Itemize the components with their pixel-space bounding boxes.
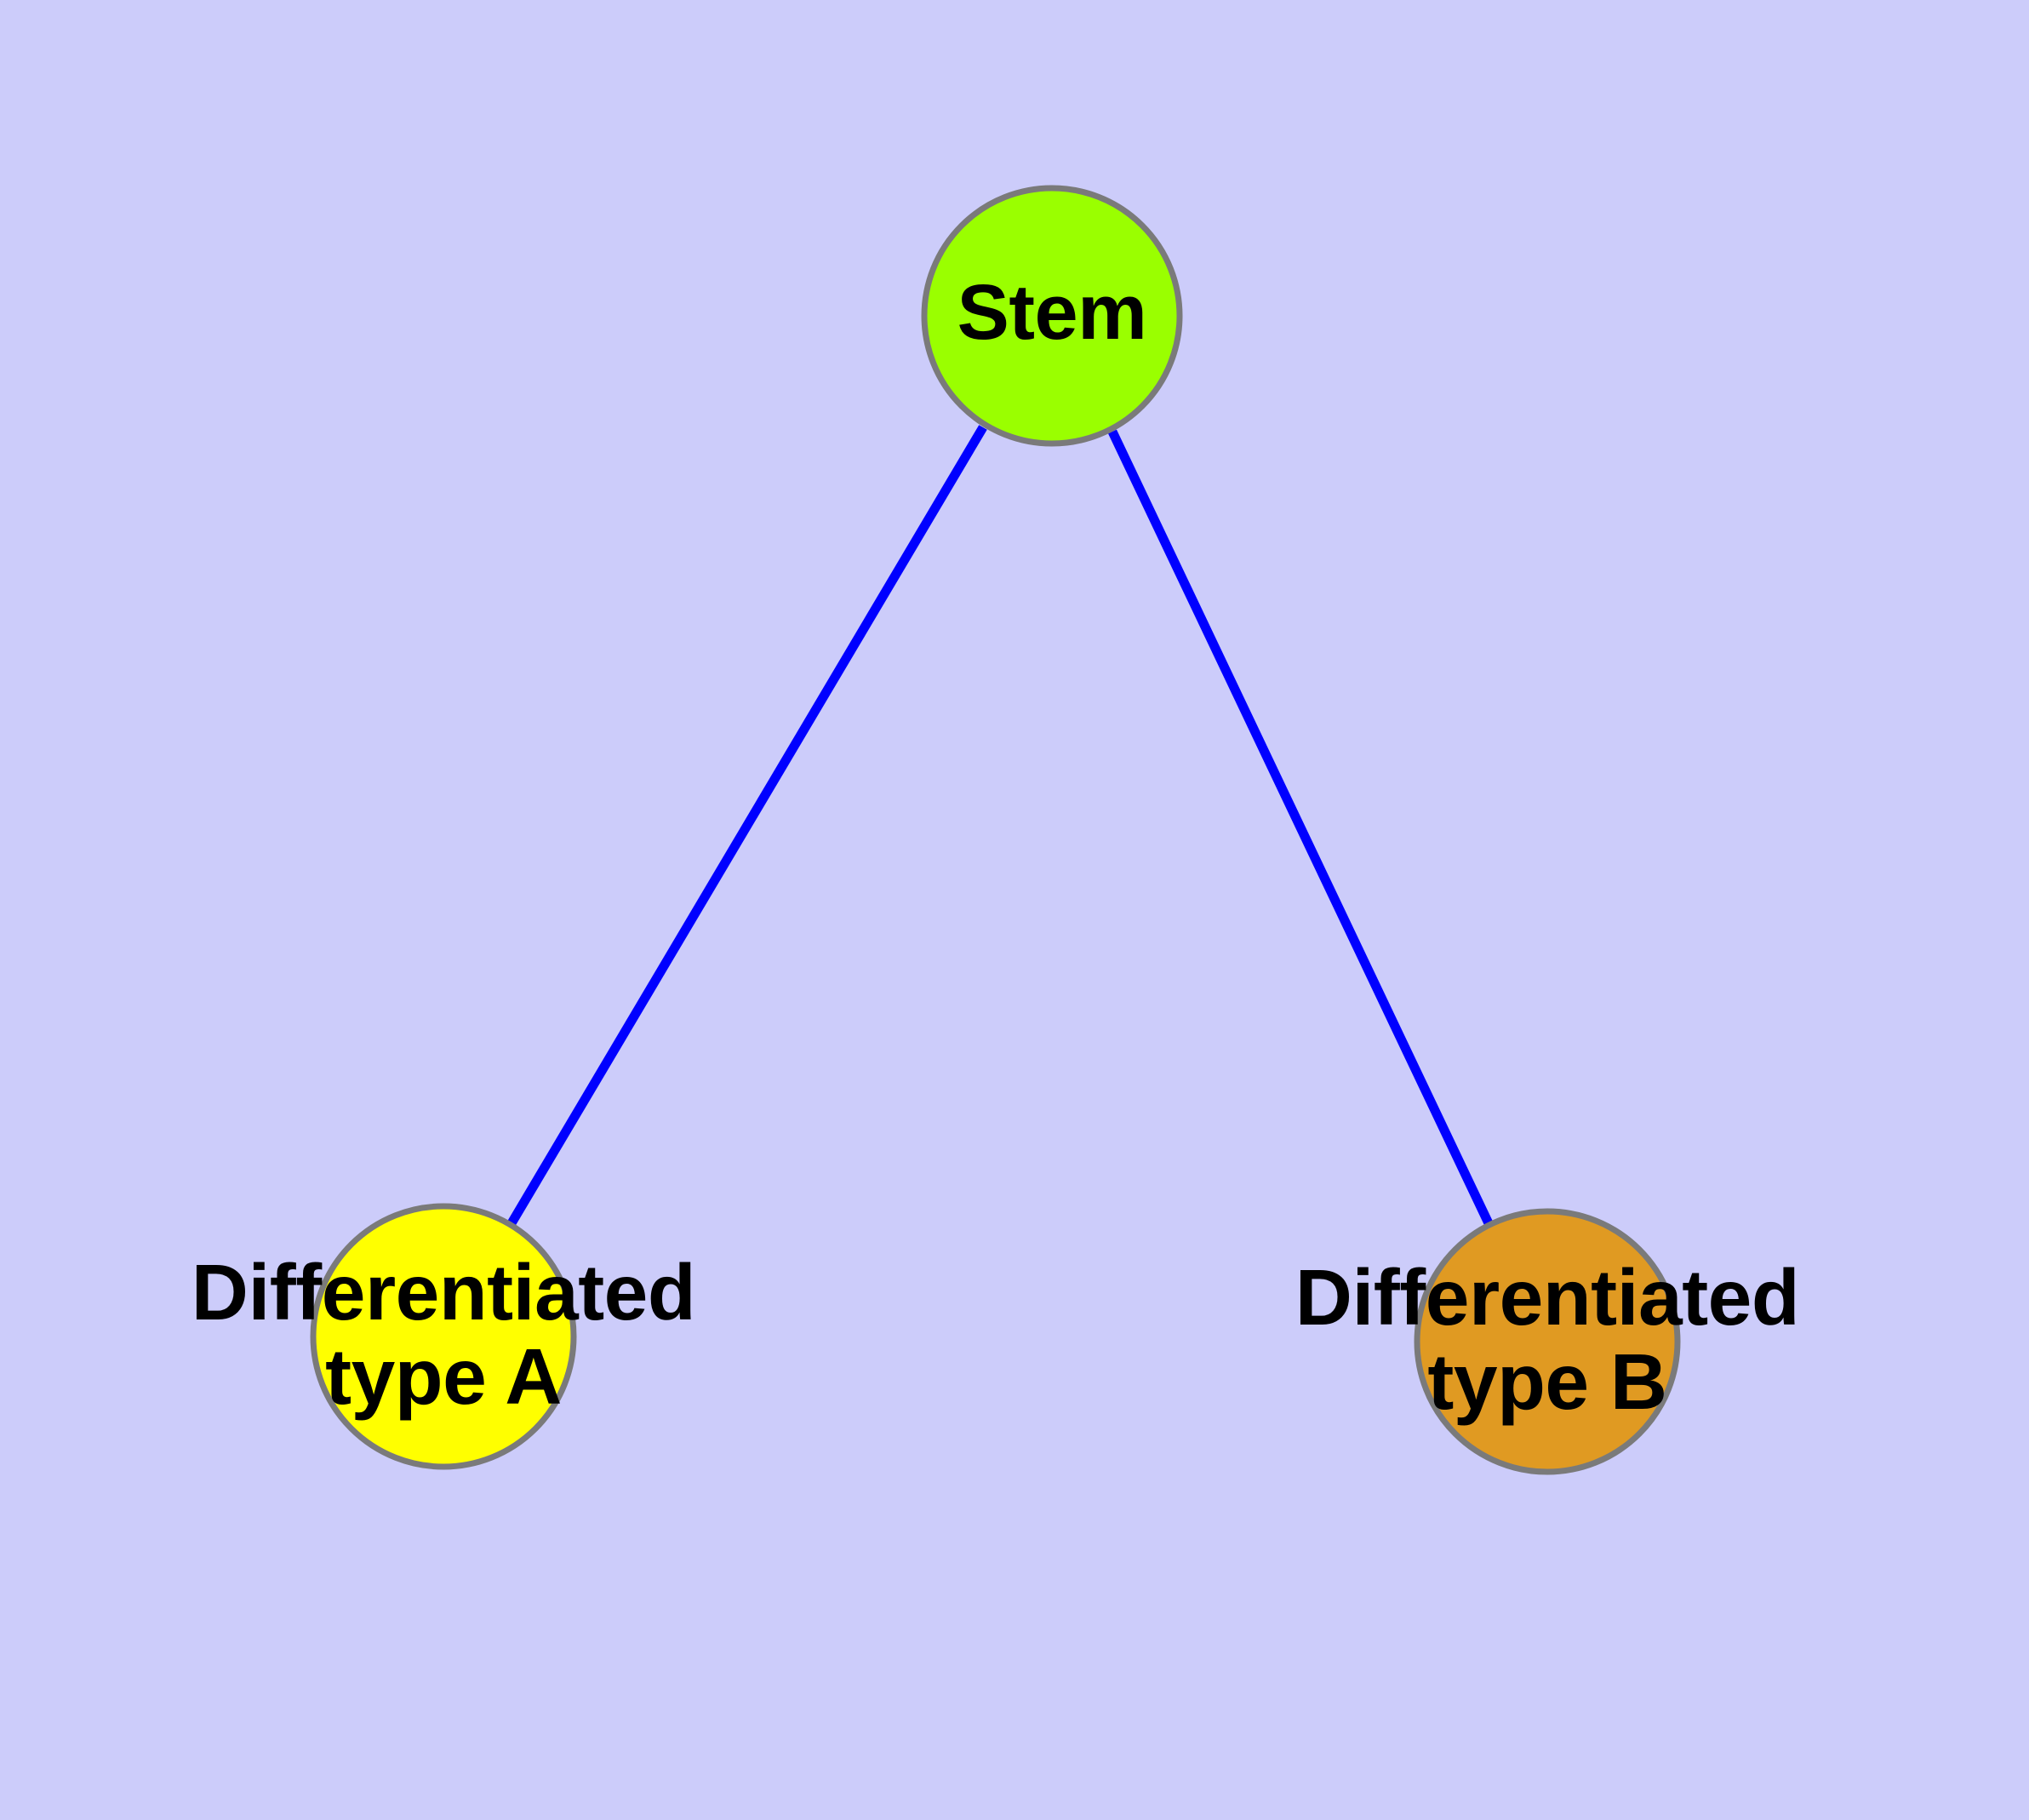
- node-circle-diff-b[interactable]: [1417, 1211, 1677, 1472]
- edge-stem-to-diff-a[interactable]: [512, 427, 983, 1223]
- node-circle-stem[interactable]: [924, 188, 1180, 444]
- node-circle-diff-a[interactable]: [313, 1206, 574, 1467]
- nodes-group: [313, 188, 1677, 1472]
- diagram-canvas: StemDifferentiatedtype ADifferentiatedty…: [0, 0, 2029, 1820]
- edges-group: [512, 427, 1489, 1223]
- graph-svg: [0, 0, 2029, 1820]
- edge-stem-to-diff-b[interactable]: [1112, 432, 1489, 1223]
